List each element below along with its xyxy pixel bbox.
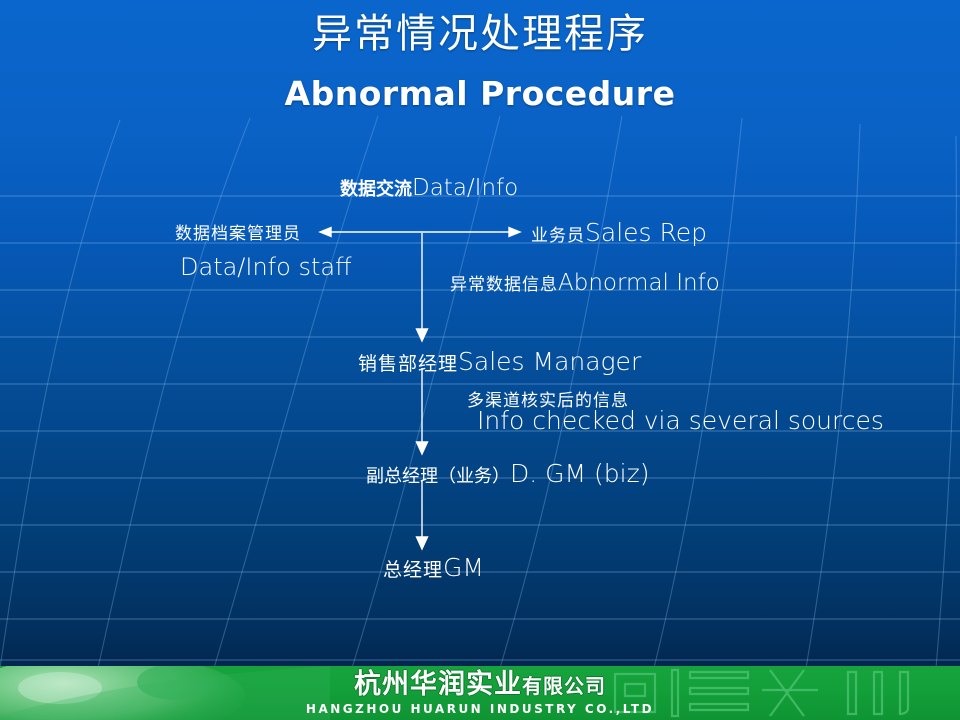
edge-label-data-info: 数据交流Data/Info xyxy=(340,175,518,201)
edge-label-abnormal-info-en: Abnormal Info xyxy=(558,270,720,296)
node-gm-cn: 总经理 xyxy=(383,559,443,581)
node-sales-rep: 业务员Sales Rep xyxy=(531,218,707,247)
node-data-staff-en: Data/Info staff xyxy=(180,253,352,281)
node-sales-manager-cn: 销售部经理 xyxy=(358,353,458,375)
edge-label-sources-en: Info checked via several sources xyxy=(477,406,884,435)
node-deputy-gm-en: D. GM (biz) xyxy=(510,459,649,488)
presentation-slide: 异常情况处理程序 Abnormal Procedure 数据交流Data/Inf… xyxy=(0,0,960,720)
footer-company-chinese: 杭州华润实业有限公司 xyxy=(0,670,960,701)
slide-title-english: Abnormal Procedure xyxy=(0,72,960,116)
node-deputy-gm-cn: 副总经理（业务） xyxy=(366,466,510,487)
edge-label-data-info-en: Data/Info xyxy=(412,175,518,201)
arrowhead-dgm xyxy=(417,442,428,454)
edge-label-data-info-cn: 数据交流 xyxy=(340,179,412,200)
node-sales-manager-en: Sales Manager xyxy=(458,347,641,376)
arrowhead-left xyxy=(320,228,331,237)
node-gm-en: GM xyxy=(443,553,484,582)
arrowhead-manager xyxy=(417,329,428,341)
node-sales-rep-cn: 业务员 xyxy=(531,226,585,246)
arrowhead-right xyxy=(509,228,520,237)
node-gm: 总经理GM xyxy=(383,553,484,582)
footer-banner: 杭州华润实业有限公司 HANGZHOU HUARUN INDUSTRY CO.,… xyxy=(0,666,960,720)
slide-title-chinese: 异常情况处理程序 xyxy=(0,8,960,60)
footer-text-block: 杭州华润实业有限公司 HANGZHOU HUARUN INDUSTRY CO.,… xyxy=(0,670,960,717)
node-sales-manager: 销售部经理Sales Manager xyxy=(358,347,641,376)
footer-company-english: HANGZHOU HUARUN INDUSTRY CO.,LTD xyxy=(0,701,960,717)
node-data-staff-cn: 数据档案管理员 xyxy=(175,219,301,244)
node-sales-rep-en: Sales Rep xyxy=(585,218,707,247)
edge-label-abnormal-info: 异常数据信息Abnormal Info xyxy=(450,270,720,296)
edge-label-abnormal-info-cn: 异常数据信息 xyxy=(450,275,558,295)
arrowhead-gm xyxy=(417,537,428,549)
node-deputy-gm: 副总经理（业务）D. GM (biz) xyxy=(366,459,649,488)
